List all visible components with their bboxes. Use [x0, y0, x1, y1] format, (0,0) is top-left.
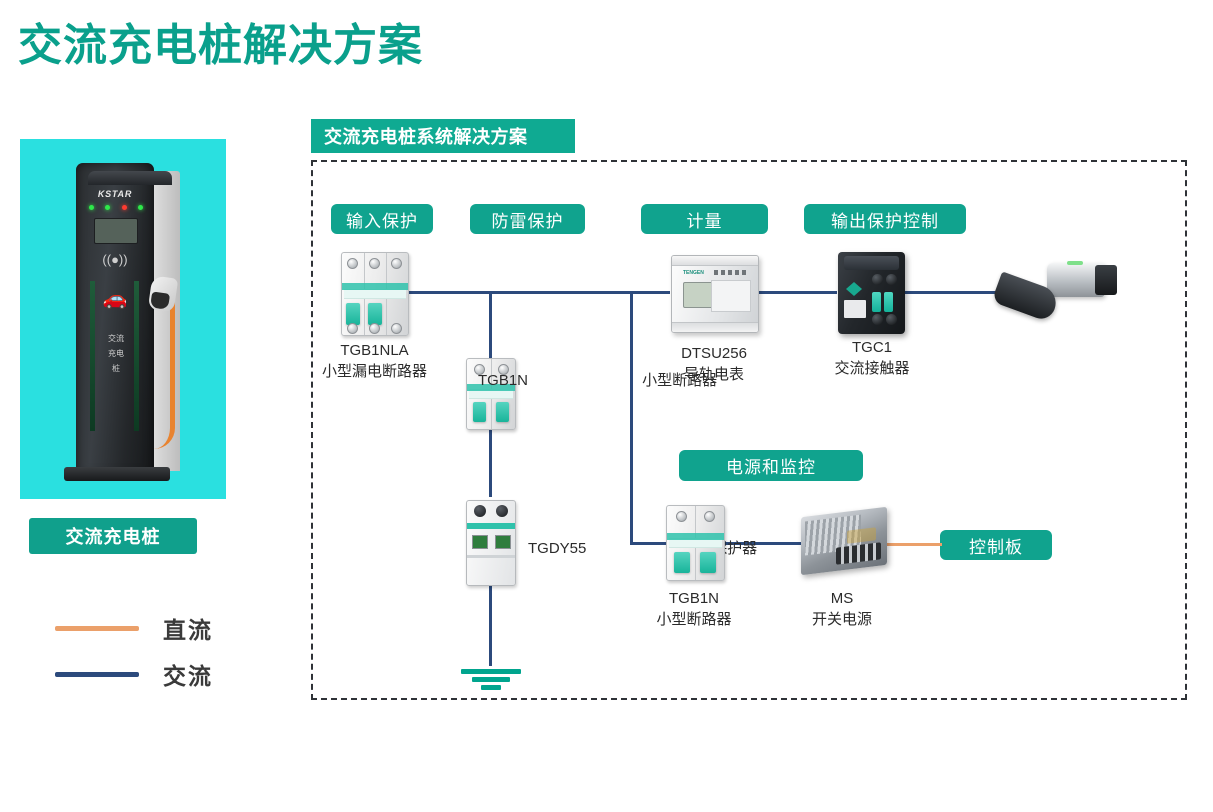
legend-label-dc: 直流: [163, 611, 213, 645]
section-pill-metering: 计量: [641, 204, 768, 234]
led-indicator-green: [138, 205, 143, 210]
device-label-ms: MS 开关电源: [792, 588, 892, 630]
device-name-dtsu256: 导轨电表: [684, 366, 744, 383]
wire-ac-branch-to-power: [630, 291, 633, 544]
device-name-tgb1n-power: 小型断路器: [656, 611, 731, 628]
device-spd-tgdy55: [466, 500, 516, 586]
led-indicator-green: [89, 205, 94, 210]
charging-cable: [154, 299, 175, 449]
device-mcb-tgb1n-power: [666, 505, 725, 581]
device-label-tgb1nla: TGB1NLA 小型漏电断路器: [307, 340, 442, 382]
device-name-ms: 开关电源: [812, 611, 872, 628]
led-indicator-red: [122, 205, 127, 210]
section-pill-control-board: 控制板: [940, 530, 1052, 560]
led-indicator-green: [105, 205, 110, 210]
page-title: 交流充电桩解决方案: [18, 24, 423, 68]
wire-ac-mcb-to-spd: [489, 425, 492, 497]
device-label-dtsu256: DTSU256 导轨电表: [650, 343, 778, 385]
device-name-tgc1: 交流接触器: [834, 360, 909, 377]
pile-display-screen: [94, 218, 138, 244]
device-mcb-tgb1n-surge: [466, 358, 516, 430]
legend-item-ac: 交流: [55, 651, 213, 697]
legend-label-ac: 交流: [163, 657, 213, 691]
device-contactor-tgc1: [838, 252, 905, 334]
wire-ac-branch-to-mcb: [489, 291, 492, 363]
section-pill-surge-protection: 防雷保护: [470, 204, 585, 234]
device-label-tgb1n-surge: TGB1N 小型断路器: [478, 370, 638, 391]
device-name-tgb1nla: 小型漏电断路器: [322, 363, 427, 380]
charging-pile-illustration: KSTAR ((●)) 🚗 交流充电桩: [62, 149, 184, 489]
pile-base-plate: [64, 467, 170, 481]
device-model-tgc1: TGC1: [852, 339, 892, 356]
device-model-tgb1n-power: TGB1N: [669, 590, 719, 607]
legend-item-dc: 直流: [55, 605, 213, 651]
ground-symbol: [460, 666, 522, 690]
pile-top-cap: [88, 171, 172, 185]
wire-ac-spd-to-ground: [489, 583, 492, 666]
legend: 直流 交流: [55, 605, 213, 697]
section-pill-output-control: 输出保护控制: [804, 204, 966, 234]
rfid-wave-icon: ((●)): [76, 253, 154, 266]
ev-charging-car-icon: 🚗: [76, 289, 154, 309]
legend-swatch-ac: [55, 672, 139, 677]
device-rcbo-tgb1nla: [341, 252, 409, 336]
diagram-banner: 交流充电桩系统解决方案: [311, 119, 575, 153]
pile-vertical-text: 交流充电桩: [106, 331, 126, 376]
section-pill-power-monitoring: 电源和监控: [679, 450, 863, 481]
device-model-ms: MS: [831, 590, 854, 607]
device-model-dtsu256: DTSU256: [681, 345, 747, 362]
wire-ac-contactor-to-gun: [905, 291, 1000, 294]
wire-dc-psu-to-control-board: [884, 543, 942, 546]
product-photo: KSTAR ((●)) 🚗 交流充电桩: [20, 139, 226, 499]
wire-ac-meter-to-contactor: [757, 291, 837, 294]
ev-connector-gun: [995, 255, 1105, 325]
section-pill-input-protection: 输入保护: [331, 204, 433, 234]
device-model-tgb1nla: TGB1NLA: [340, 342, 408, 359]
device-model-tgb1n-surge: TGB1N: [478, 370, 638, 391]
device-label-tgdy55: TGDY55 浪涌保护器: [528, 538, 678, 559]
pile-brand-label: KSTAR: [76, 189, 154, 199]
product-caption: 交流充电桩: [29, 518, 197, 554]
device-meter-dtsu256: TENGEN: [671, 255, 759, 333]
legend-swatch-dc: [55, 626, 139, 631]
device-label-tgc1: TGC1 交流接触器: [826, 337, 918, 379]
device-model-tgdy55: TGDY55: [528, 538, 678, 559]
page-root: 交流充电桩解决方案 KSTAR ((●)) 🚗 交流充电桩: [0, 0, 1213, 812]
device-psu-ms: [801, 512, 887, 570]
pile-led-row: [89, 205, 143, 210]
pile-front-body: KSTAR ((●)) 🚗 交流充电桩: [76, 163, 154, 475]
device-label-tgb1n-power: TGB1N 小型断路器: [634, 588, 754, 630]
